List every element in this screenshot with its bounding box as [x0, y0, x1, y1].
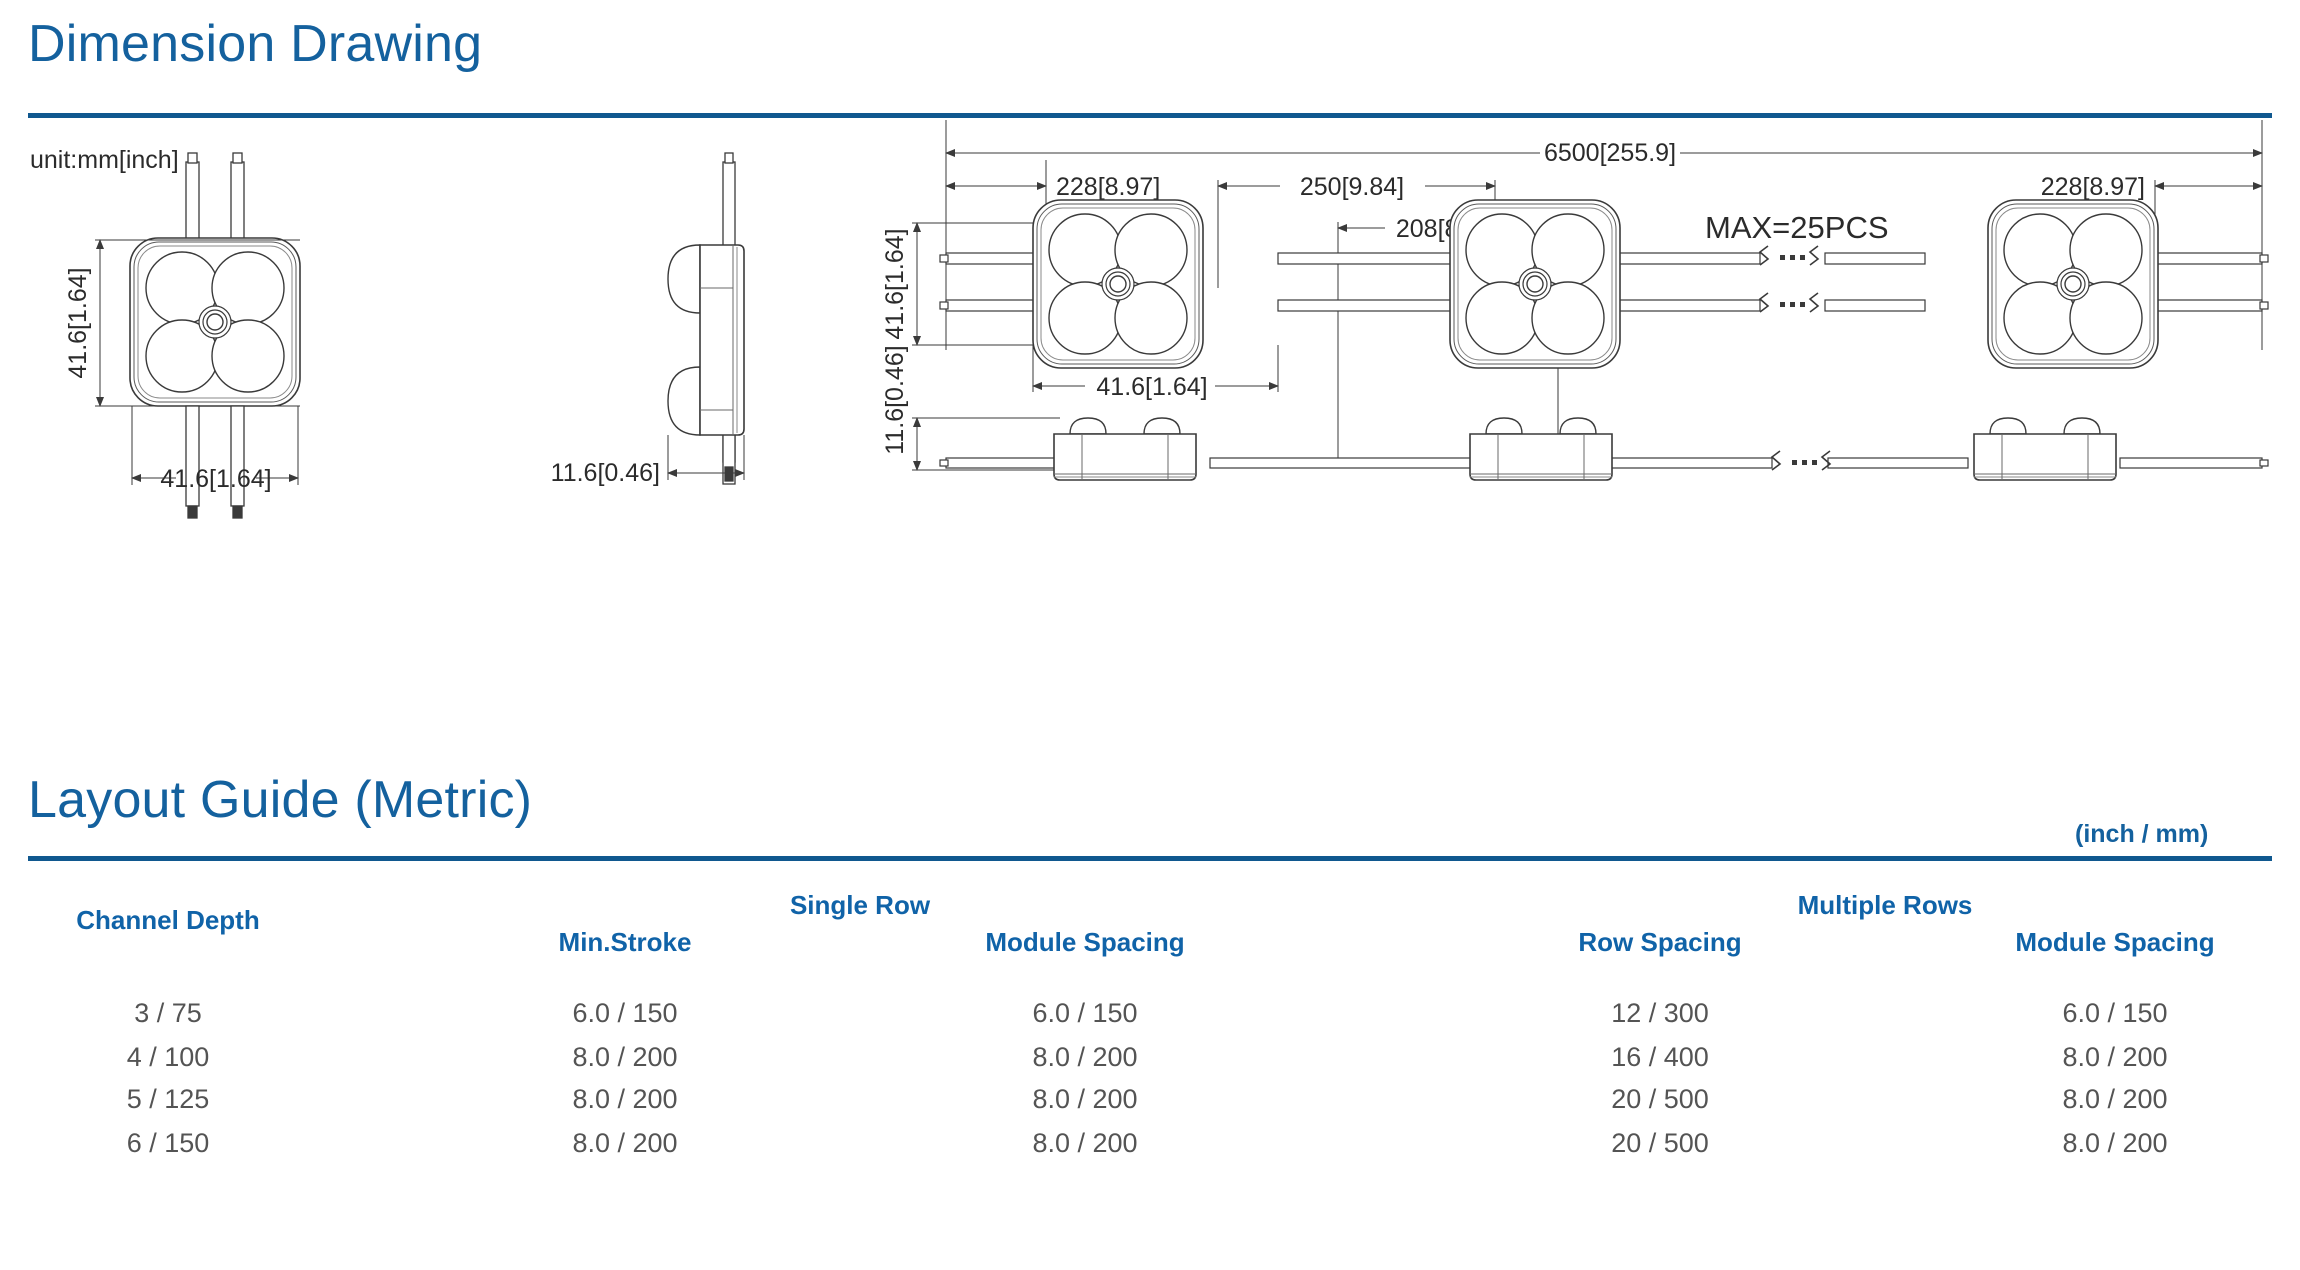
group-header-multiple-rows: Multiple Rows: [1798, 890, 1973, 921]
table-row: 3 / 75: [134, 998, 202, 1029]
datasheet-page: Dimension Drawing unit:mm[inch]: [0, 0, 2300, 1270]
column-header-single-module-spacing: Module Spacing: [985, 927, 1184, 958]
table-row: 20 / 500: [1611, 1128, 1709, 1159]
lead-left-label: 228[8.97]: [1056, 173, 1160, 201]
table-row: 8.0 / 200: [2062, 1084, 2167, 1115]
front-height-label: 41.6[1.64]: [64, 267, 92, 378]
table-row: 5 / 125: [127, 1084, 210, 1115]
table-row: 8.0 / 200: [1032, 1042, 1137, 1073]
column-header-multi-module-spacing: Module Spacing: [2015, 927, 2214, 958]
table-row: 8.0 / 200: [2062, 1128, 2167, 1159]
table-row: 6 / 150: [127, 1128, 210, 1159]
pitch-label: 250[9.84]: [1300, 173, 1404, 201]
column-header-row-spacing: Row Spacing: [1578, 927, 1741, 958]
front-width-label: 41.6[1.64]: [160, 465, 271, 493]
page-title-layout-guide: Layout Guide (Metric): [28, 770, 532, 830]
table-row: 8.0 / 200: [572, 1042, 677, 1073]
module-string-drawing: 6500[255.9] 228[8.97]: [881, 120, 2268, 480]
module-height-label: 41.6[1.64]: [881, 228, 909, 339]
layout-guide-table: Single Row Multiple Rows Channel Depth M…: [0, 890, 2300, 1270]
table-row: 20 / 500: [1611, 1084, 1709, 1115]
profile-thickness-label: 11.6[0.46]: [881, 345, 909, 454]
module-width-label: 41.6[1.64]: [1096, 373, 1207, 401]
table-row: 6.0 / 150: [572, 998, 677, 1029]
lead-right-label: 228[8.97]: [2041, 173, 2145, 201]
table-row: 8.0 / 200: [1032, 1084, 1137, 1115]
table-row: 8.0 / 200: [1032, 1128, 1137, 1159]
table-row: 4 / 100: [127, 1042, 210, 1073]
table-row: 6.0 / 150: [2062, 998, 2167, 1029]
table-row: 16 / 400: [1611, 1042, 1709, 1073]
table-row: 12 / 300: [1611, 998, 1709, 1029]
page-title-dimension-drawing: Dimension Drawing: [28, 14, 482, 74]
column-header-min-stroke: Min.Stroke: [559, 927, 692, 958]
string-total-length-label: 6500[255.9]: [1544, 139, 1676, 167]
group-header-single-row: Single Row: [790, 890, 930, 921]
table-row: 6.0 / 150: [1032, 998, 1137, 1029]
column-header-channel-depth: Channel Depth: [76, 905, 259, 936]
dimension-drawing-canvas: 41.6[1.64] 41.6[1.64]: [0, 120, 2300, 740]
divider-dimension: [28, 113, 2272, 118]
table-row: 8.0 / 200: [2062, 1042, 2167, 1073]
table-row: 8.0 / 200: [572, 1128, 677, 1159]
side-view-drawing: 11.6[0.46]: [551, 153, 744, 487]
divider-layout: [28, 856, 2272, 861]
front-view-drawing: 41.6[1.64] 41.6[1.64]: [64, 153, 300, 518]
max-pcs-label: MAX=25PCS: [1705, 210, 1889, 245]
table-row: 8.0 / 200: [572, 1084, 677, 1115]
layout-unit-note: (inch / mm): [2075, 820, 2208, 849]
side-thickness-label: 11.6[0.46]: [551, 459, 660, 487]
